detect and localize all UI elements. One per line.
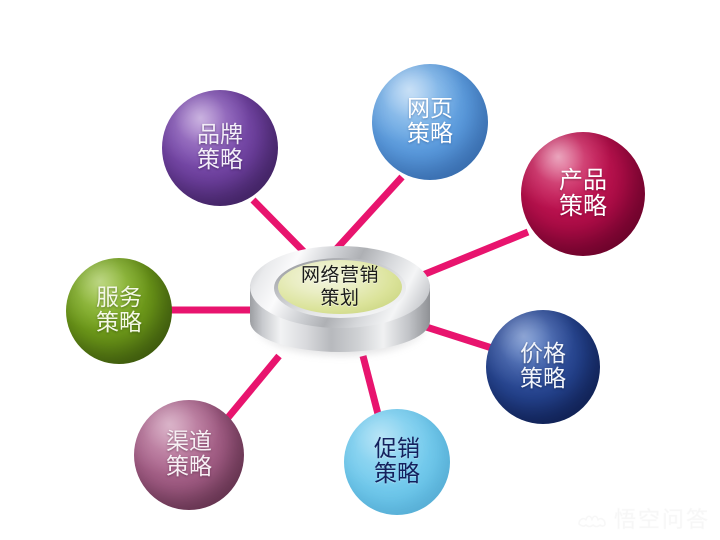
center-node-label-line2: 策划 xyxy=(320,287,359,309)
node-product-strategy-label: 产品 策略 xyxy=(559,168,607,220)
center-node-hub[interactable]: 网络营销 策划 xyxy=(242,238,438,366)
node-product-strategy[interactable]: 产品 策略 xyxy=(521,132,645,256)
node-channel-strategy[interactable]: 渠道 策略 xyxy=(134,400,244,510)
node-channel-strategy-label: 渠道 策略 xyxy=(166,430,212,480)
node-service-strategy[interactable]: 服务 策略 xyxy=(66,258,172,364)
node-brand-strategy-label: 品牌 策略 xyxy=(197,123,243,173)
node-price-strategy-label: 价格 策略 xyxy=(520,342,566,392)
center-node-label: 网络营销 策划 xyxy=(242,264,438,310)
node-webpage-strategy[interactable]: 网页 策略 xyxy=(372,64,488,180)
diagram-canvas: 网络营销 策划 品牌 策略 网页 策略 产品 策略 价格 策略 促销 策略 渠道… xyxy=(0,0,720,540)
node-service-strategy-label: 服务 策略 xyxy=(96,286,142,336)
node-price-strategy[interactable]: 价格 策略 xyxy=(486,310,600,424)
center-node-label-line1: 网络营销 xyxy=(301,264,379,286)
node-promotion-strategy-label: 促销 策略 xyxy=(374,437,420,487)
node-webpage-strategy-label: 网页 策略 xyxy=(407,97,453,147)
node-brand-strategy[interactable]: 品牌 策略 xyxy=(162,90,278,206)
node-promotion-strategy[interactable]: 促销 策略 xyxy=(344,409,450,515)
